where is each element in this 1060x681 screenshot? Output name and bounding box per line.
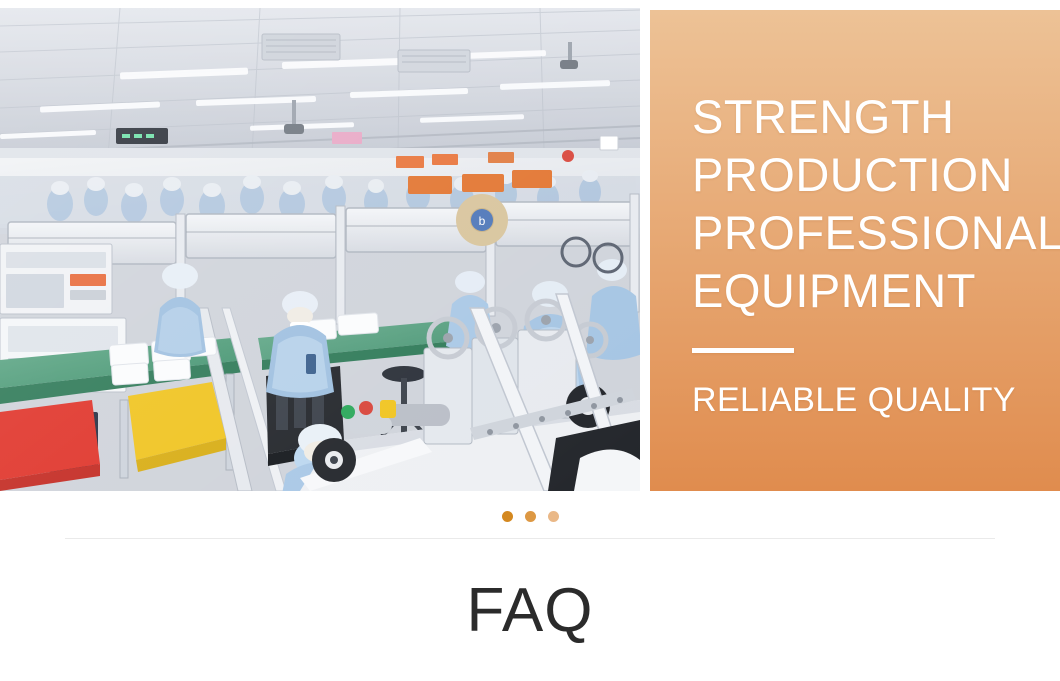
promo-headline-line-3: PROFESSIONAL — [692, 204, 1052, 262]
carousel-dot-2[interactable] — [525, 511, 536, 522]
promo-headline-line-2: PRODUCTION — [692, 146, 1052, 204]
promo-content: STRENGTH PRODUCTION PROFESSIONAL EQUIPME… — [692, 88, 1052, 420]
page-root: b STRENGTH PRODUCTION PROFESSIONAL EQUIP… — [0, 0, 1060, 681]
carousel-pagination[interactable] — [0, 511, 1060, 522]
hero-banner: b STRENGTH PRODUCTION PROFESSIONAL EQUIP… — [0, 0, 1060, 492]
factory-photo-illustration: b — [0, 8, 640, 491]
page-title: FAQ — [0, 575, 1060, 647]
carousel-dot-3[interactable] — [548, 511, 559, 522]
promo-panel[interactable]: STRENGTH PRODUCTION PROFESSIONAL EQUIPME… — [650, 10, 1060, 491]
promo-divider-rule — [692, 348, 794, 353]
carousel-dot-1[interactable] — [502, 511, 513, 522]
promo-subheadline: RELIABLE QUALITY — [692, 381, 1052, 420]
section-divider — [65, 538, 995, 539]
promo-headline-line-4: EQUIPMENT — [692, 262, 1052, 320]
factory-photo[interactable]: b — [0, 8, 640, 491]
promo-headline-line-1: STRENGTH — [692, 88, 1052, 146]
